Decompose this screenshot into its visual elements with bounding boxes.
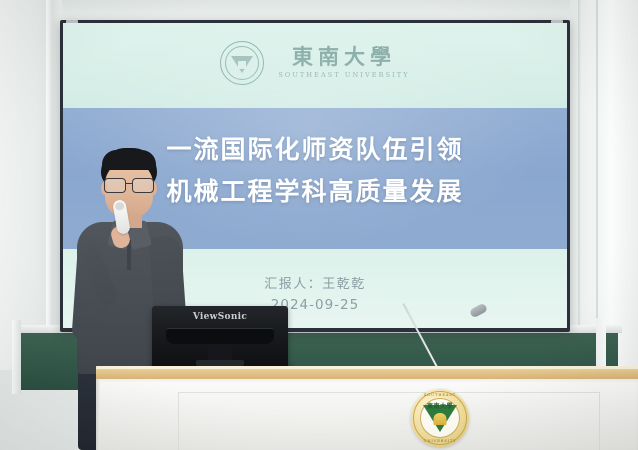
gooseneck-microphone xyxy=(436,305,508,367)
presenter-hair-front xyxy=(102,150,156,170)
wordmark-chinese: 東南大學 xyxy=(292,47,396,68)
podium-seal-building-icon xyxy=(434,413,447,425)
viewsonic-monitor: ViewSonic xyxy=(152,306,288,368)
wall-seam xyxy=(578,0,581,372)
podium-seal-ring-text-top: SOUTHEAST xyxy=(411,393,469,397)
slide-logo-header: 東南大學 SOUTHEAST UNIVERSITY xyxy=(63,41,567,85)
chalkboard-frame-left xyxy=(12,320,21,394)
podium-university-seal: SOUTHEAST 東南大學 UNIVERSITY xyxy=(411,389,469,447)
podium-seal-chinese: 東南大學 xyxy=(411,401,469,410)
podium-top-highlight xyxy=(96,366,638,369)
wordmark-english: SOUTHEAST UNIVERSITY xyxy=(278,71,409,79)
wall-panel-right xyxy=(570,0,638,372)
glasses-icon xyxy=(104,178,154,191)
gooseneck-capsule xyxy=(469,303,488,319)
glasses-bridge xyxy=(125,183,133,184)
glasses-lens-left xyxy=(104,178,126,193)
wall-seam-secondary xyxy=(596,0,598,372)
monitor-brand-label: ViewSonic xyxy=(152,312,288,322)
podium-seal-ring-text-bottom: UNIVERSITY xyxy=(411,439,469,443)
podium-panel-inset xyxy=(178,392,600,450)
seal-building-icon xyxy=(238,61,246,69)
seu-seal-icon xyxy=(220,41,264,85)
glasses-lens-right xyxy=(132,178,154,193)
lecture-hall-photo: 東南大學 SOUTHEAST UNIVERSITY 一流国际化师资队伍引领 机械… xyxy=(0,0,638,450)
monitor-vent xyxy=(166,328,274,344)
university-wordmark: 東南大學 SOUTHEAST UNIVERSITY xyxy=(278,47,409,79)
wall-panel-left xyxy=(0,0,62,370)
podium-left-edge xyxy=(96,379,100,450)
